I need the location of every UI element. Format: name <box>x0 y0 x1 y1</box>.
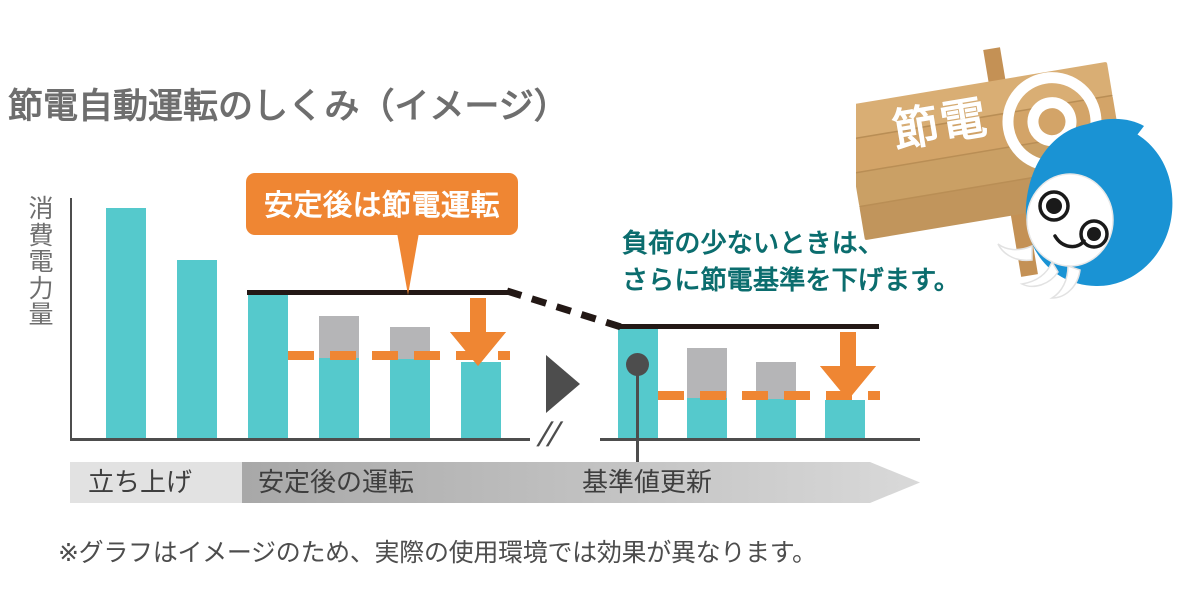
bar-segment-teal <box>461 362 501 438</box>
bar-segment-teal <box>248 294 288 438</box>
arrow-down-icon <box>818 332 878 404</box>
phase-label-startup: 立ち上げ <box>88 462 192 503</box>
bar-segment-teal <box>106 208 146 438</box>
phase-label-stable-operation: 安定後の運転 <box>258 462 414 503</box>
bar-right-2 <box>687 0 727 438</box>
phase-label-baseline-update: 基準値更新 <box>582 462 712 503</box>
phase-band <box>70 462 920 503</box>
callout-stable-operation: 安定後は節電運転 <box>246 173 518 235</box>
bar-left-1 <box>106 0 146 438</box>
reference-line-baseline-left <box>247 290 509 295</box>
bar-segment-teal <box>825 400 865 438</box>
phase-transition-triangle-icon <box>546 355 580 413</box>
mascot-illustration: 節電 <box>856 14 1199 304</box>
bar-segment-teal <box>390 359 430 438</box>
infographic-root: 節電自動運転のしくみ（イメージ） 消 費 電 力 量 // 安定後は節電運転 負… <box>0 0 1199 594</box>
callout-tail-icon <box>396 227 420 295</box>
mascot-face <box>1027 174 1113 266</box>
bar-segment-teal <box>756 399 796 438</box>
bar-left-2 <box>177 0 217 438</box>
footnote-text: ※グラフはイメージのため、実際の使用環境では効果が異なります。 <box>58 533 817 569</box>
reference-line-baseline-right <box>617 324 879 329</box>
reference-line-connector-dashed <box>505 286 625 332</box>
bar-segment-teal <box>687 398 727 438</box>
bar-right-3 <box>756 0 796 438</box>
bar-segment-teal <box>319 358 359 438</box>
arrow-down-icon <box>448 298 508 370</box>
baseline-marker-dot-icon <box>626 353 649 376</box>
bar-segment-teal <box>177 260 217 438</box>
